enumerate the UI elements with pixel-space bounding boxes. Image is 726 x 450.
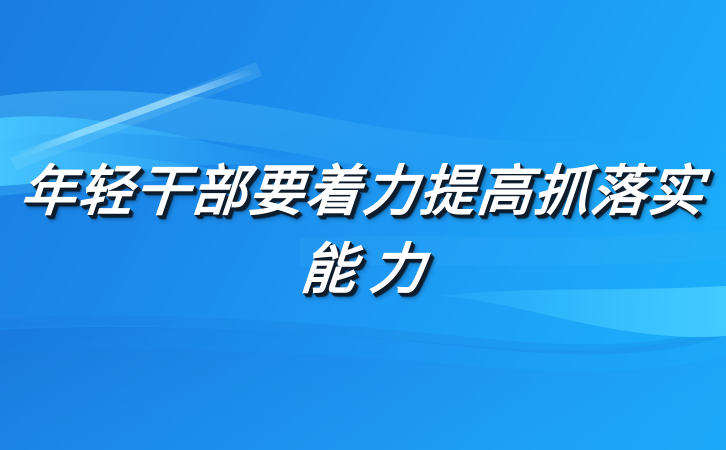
wave-diagonal-streak <box>18 68 253 158</box>
headline-line-2: 能力 <box>0 230 726 308</box>
headline-block: 年轻干部要着力提高抓落实 能力 <box>0 152 726 308</box>
banner-graphic: 年轻干部要着力提高抓落实 能力 <box>0 0 726 450</box>
wave-bottom-soft <box>0 349 726 450</box>
wave-midline-edge <box>0 315 726 354</box>
wave-bottom-main <box>0 327 726 450</box>
headline-line-1: 年轻干部要着力提高抓落实 <box>0 152 726 230</box>
